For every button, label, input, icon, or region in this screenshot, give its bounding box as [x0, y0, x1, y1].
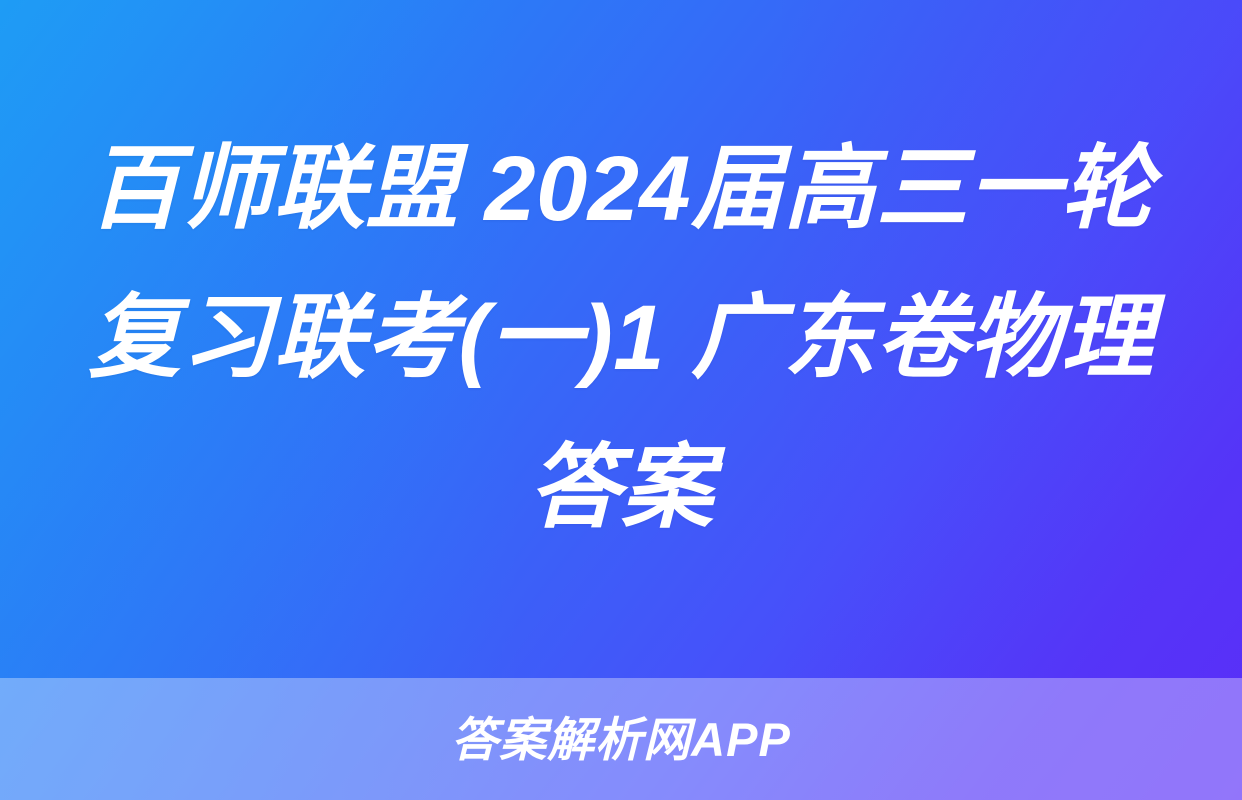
- footer-watermark-band: 答案解析网APP: [0, 678, 1242, 800]
- page-title: 百师联盟 2024届高三一轮复习联考(一)1 广东卷物理答案: [58, 115, 1184, 562]
- footer-watermark-text: 答案解析网APP: [451, 716, 791, 763]
- poster-canvas: 百师联盟 2024届高三一轮复习联考(一)1 广东卷物理答案 答案解析网APP: [0, 0, 1242, 800]
- title-area: 百师联盟 2024届高三一轮复习联考(一)1 广东卷物理答案: [0, 0, 1242, 678]
